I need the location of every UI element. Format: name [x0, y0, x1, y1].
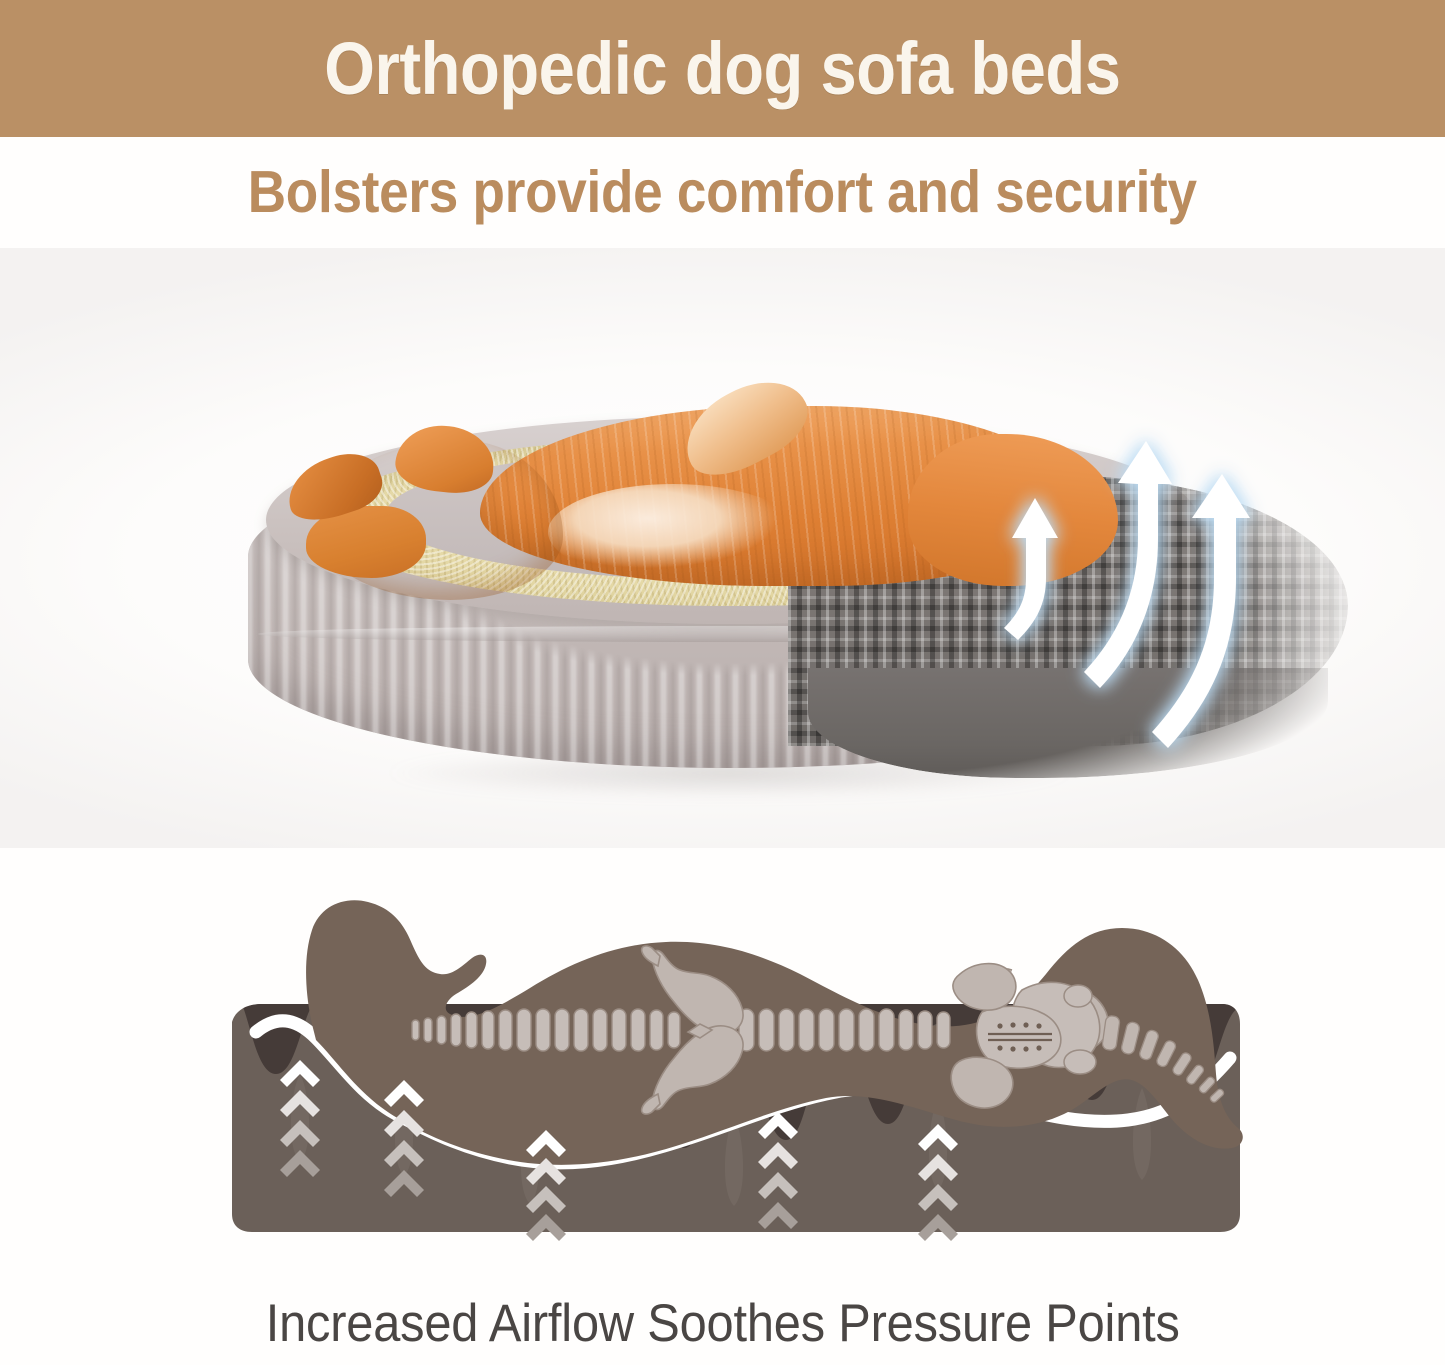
cross-section-diagram: [0, 862, 1445, 1262]
page-title: Orthopedic dog sofa beds: [324, 26, 1120, 111]
dog-hindquarters: [908, 434, 1118, 586]
caption-text: Increased Airflow Soothes Pressure Point…: [266, 1293, 1180, 1354]
dog-chest-fur: [548, 484, 798, 580]
product-infographic-page: Orthopedic dog sofa beds Bolsters provid…: [0, 0, 1445, 1365]
dog-bed: [248, 388, 1216, 788]
header-band: Orthopedic dog sofa beds: [0, 0, 1445, 137]
dog-photo-subject: [248, 388, 1216, 788]
subtitle-text: Bolsters provide comfort and security: [248, 158, 1197, 226]
product-photo: [0, 248, 1445, 848]
subtitle-row: Bolsters provide comfort and security: [0, 152, 1445, 232]
caption-row: Increased Airflow Soothes Pressure Point…: [0, 1282, 1445, 1365]
